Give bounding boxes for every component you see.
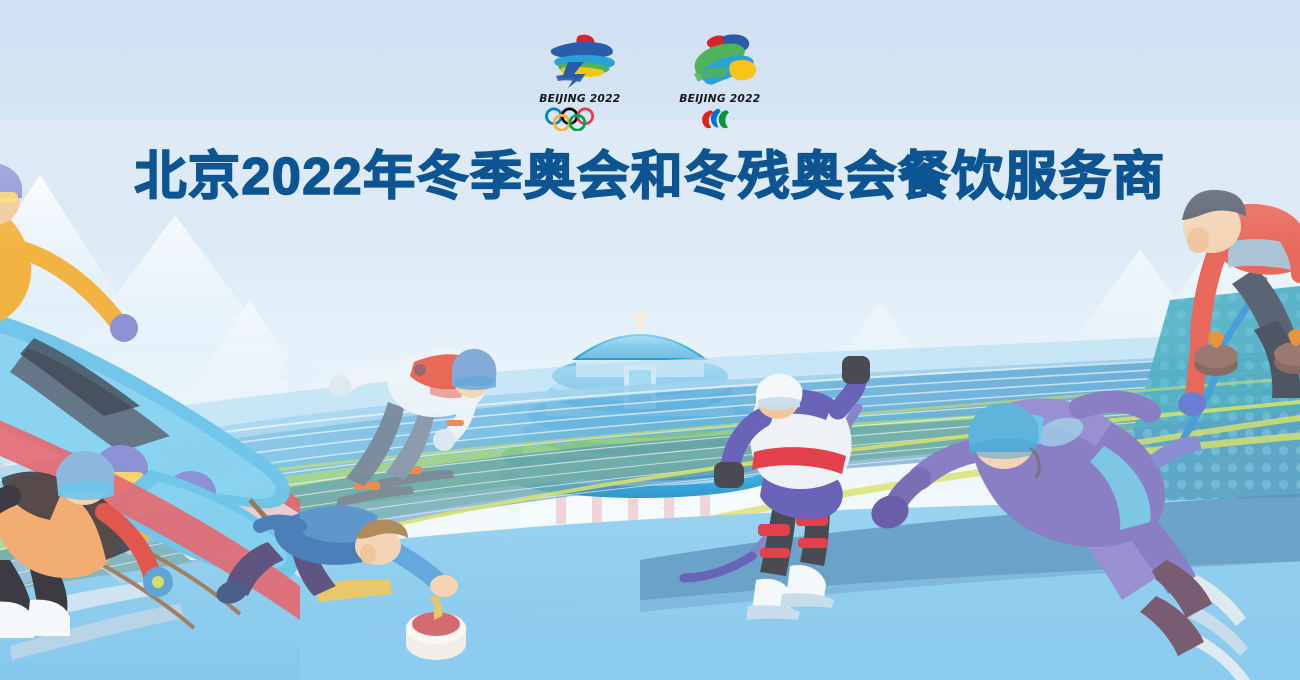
olympic-emblem: BEIJING 2022 — [531, 30, 629, 140]
olympic-winter-ribbon-icon — [534, 30, 626, 92]
olympic-wordmark: BEIJING 2022 — [539, 93, 620, 105]
paralympic-emblem: BEIJING 2022 — [671, 30, 769, 140]
paralympic-agitos-icon — [680, 107, 759, 131]
paralympic-wordmark: BEIJING 2022 — [679, 93, 760, 105]
paralympic-winter-ribbon-icon — [674, 30, 766, 92]
beijing-2022-banner: BEIJING 2022 BEIJING 20 — [0, 0, 1300, 680]
olympic-rings-icon — [540, 107, 619, 131]
emblem-row: BEIJING 2022 BEIJING 20 — [0, 30, 1300, 142]
